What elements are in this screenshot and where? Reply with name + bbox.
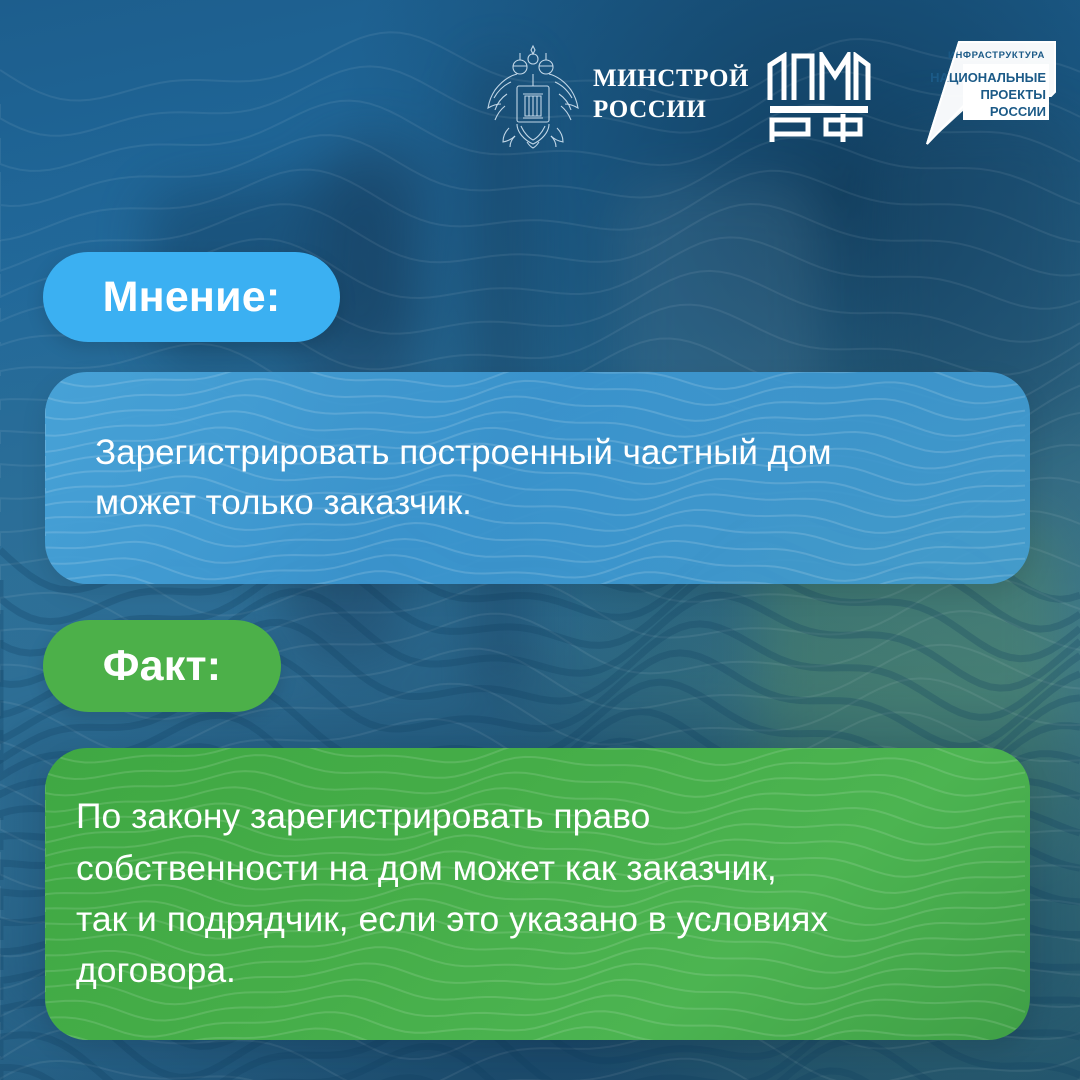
np-line2: ПРОЕКТЫ — [980, 87, 1046, 102]
minstroy-logo-text: МИНСТРОЙРОССИИ — [593, 63, 749, 125]
fact-label-text: Факт: — [103, 642, 222, 691]
dom-rf-logo — [764, 52, 874, 144]
np-kicker: ИНФРАСТРУКТУРА — [948, 50, 1045, 61]
poster-canvas: МИНСТРОЙРОССИИ ИНФРАСТРУКТУРА НАЦИОНАЛЬН… — [0, 0, 1080, 1080]
fact-label-pill: Факт: — [43, 620, 281, 712]
opinion-label-text: Мнение: — [103, 273, 281, 322]
russian-double-headed-eagle-emblem — [487, 38, 579, 150]
opinion-card: Зарегистрировать построенный частный дом… — [45, 372, 1030, 584]
fact-card-text: По закону зарегистрировать право собстве… — [45, 748, 1030, 1040]
np-line3: РОССИИ — [990, 104, 1046, 119]
opinion-label-pill: Мнение: — [43, 252, 340, 342]
national-projects-flag-logo: ИНФРАСТРУКТУРА НАЦИОНАЛЬНЫЕ ПРОЕКТЫ РОСС… — [915, 32, 1060, 154]
minstroy-logo: МИНСТРОЙРОССИИ — [487, 38, 749, 150]
header-logo-bar: МИНСТРОЙРОССИИ ИНФРАСТРУКТУРА НАЦИОНАЛЬН… — [0, 0, 1080, 175]
fact-card: По закону зарегистрировать право собстве… — [45, 748, 1030, 1040]
opinion-card-text: Зарегистрировать построенный частный дом… — [45, 372, 1030, 584]
